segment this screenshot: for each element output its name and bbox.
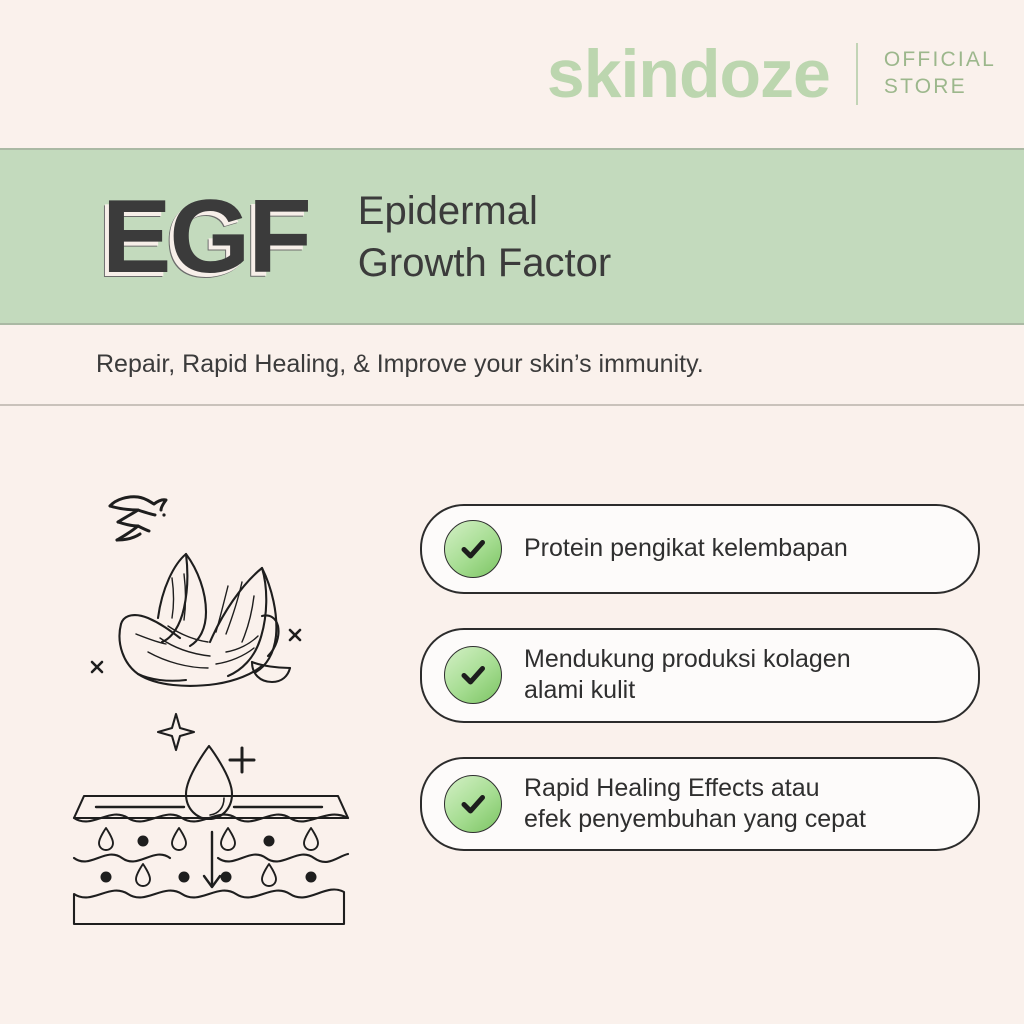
egf-full-name-line-1: Epidermal <box>358 185 611 237</box>
brand-lockup: skindoze OFFICIAL STORE <box>547 40 996 108</box>
feature-item[interactable]: Protein pengikat kelembapan <box>420 504 980 594</box>
feature-item[interactable]: Mendukung produksi kolagen alami kulit <box>420 628 980 723</box>
content-area: Protein pengikat kelembapan Mendukung pr… <box>0 406 1024 1024</box>
official-store-line-1: OFFICIAL <box>884 47 996 74</box>
official-store-line-2: STORE <box>884 74 996 101</box>
tagline-row: Repair, Rapid Healing, & Improve your sk… <box>0 325 1024 404</box>
check-icon <box>444 775 502 833</box>
sparkle-mark <box>92 662 102 672</box>
skin-layers-icon <box>66 706 356 941</box>
tagline-text: Repair, Rapid Healing, & Improve your sk… <box>96 350 704 379</box>
feature-item[interactable]: Rapid Healing Effects atau efek penyembu… <box>420 757 980 852</box>
check-icon <box>444 646 502 704</box>
brand-divider <box>856 43 858 105</box>
egf-full-name-line-2: Growth Factor <box>358 237 611 289</box>
check-icon <box>444 520 502 578</box>
feature-label: Rapid Healing Effects atau efek penyembu… <box>524 773 866 836</box>
feature-label: Protein pengikat kelembapan <box>524 533 848 564</box>
birds-nest-icon <box>76 466 326 701</box>
illustration-column <box>0 406 420 1024</box>
egf-banner: EGF Epidermal Growth Factor <box>0 148 1024 325</box>
egf-abbreviation: EGF <box>96 185 310 289</box>
brand-header: skindoze OFFICIAL STORE <box>0 0 1024 148</box>
egf-full-name: Epidermal Growth Factor <box>358 185 611 289</box>
brand-logo-text: skindoze <box>547 40 830 108</box>
sparkle-mark <box>290 630 300 640</box>
feature-label: Mendukung produksi kolagen alami kulit <box>524 644 851 707</box>
official-store-label: OFFICIAL STORE <box>884 47 996 101</box>
feature-list: Protein pengikat kelembapan Mendukung pr… <box>420 406 1024 1024</box>
